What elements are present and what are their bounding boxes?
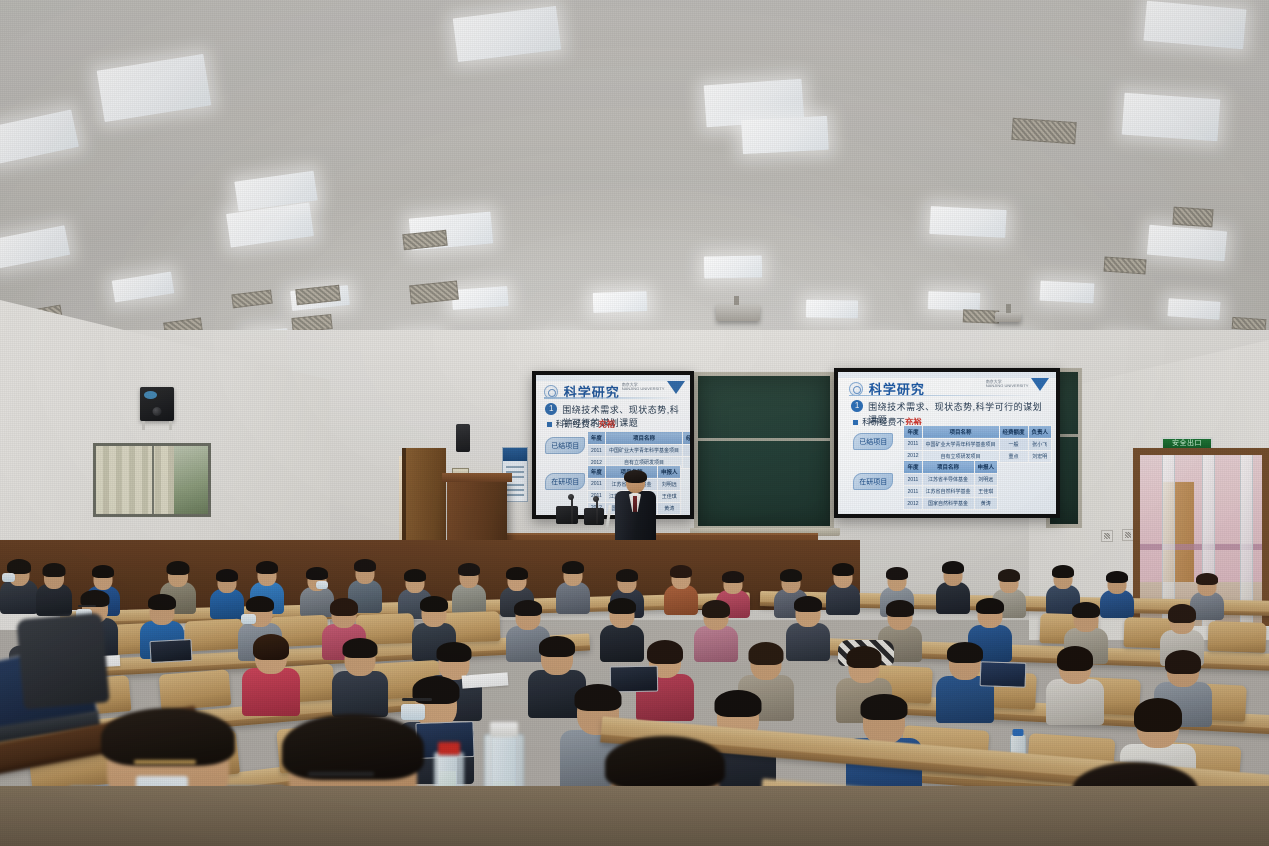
ceiling-light-panel <box>806 300 858 319</box>
exit-sign-text-cn: 安全出口 <box>1172 440 1202 447</box>
bottle-cap <box>490 722 518 737</box>
logo-mark-icon <box>667 381 685 394</box>
microphone-head-icon <box>568 494 574 500</box>
audience-hair <box>330 598 358 616</box>
table-cell: 黄涛 <box>974 498 998 510</box>
audience-torso <box>1046 679 1104 725</box>
lectern-top <box>442 473 512 482</box>
floor <box>0 786 1269 846</box>
laptop <box>149 639 192 663</box>
audience-hair <box>1134 698 1182 732</box>
projection-screen-right: 南京大学 NANJING UNIVERSITY 科学研究 1 围绕技术需求、现状… <box>834 368 1060 518</box>
audience-hair <box>847 646 882 668</box>
window-glass <box>174 446 208 514</box>
audience-torso <box>556 582 590 614</box>
notice-header <box>503 448 527 461</box>
audience-hair <box>539 636 575 657</box>
ceiling-air-vent <box>1011 118 1076 144</box>
audience-torso <box>452 584 486 615</box>
table-header-cell: 年度 <box>904 461 922 474</box>
audience-hair <box>886 600 914 617</box>
slide-table-one: 年度项目名称经费额度负责人2011中国矿业大学青年科学基金项目一般张小飞2012… <box>587 431 690 469</box>
audience-hair <box>976 598 1004 614</box>
window-mullion <box>152 446 154 514</box>
presenter <box>612 472 658 544</box>
audience-hair <box>43 563 66 577</box>
eyeglasses <box>78 605 96 607</box>
table-cell: 刘明远 <box>657 478 681 490</box>
audience-hair <box>616 569 638 582</box>
chalkboard-left <box>694 372 834 530</box>
window-curtain <box>96 446 177 514</box>
table-row: 2012国家自然科学基金黄涛 <box>904 498 998 510</box>
audience-hair <box>437 642 472 662</box>
audience-hair <box>420 596 448 612</box>
audience-torso <box>664 585 698 615</box>
audience-torso <box>826 584 860 615</box>
audience-member <box>664 566 698 614</box>
table-one-tag: 已结项目 <box>853 433 893 450</box>
subpoint-emphasis: 充裕 <box>598 419 615 429</box>
table-cell: 王佳琪 <box>974 486 998 498</box>
audience-hair <box>947 642 983 663</box>
audience-hair <box>343 638 378 658</box>
ceiling-light-panel <box>929 206 1006 238</box>
audience-hair <box>998 569 1020 582</box>
wall-socket-plate <box>1101 530 1113 542</box>
audience-member <box>36 564 72 614</box>
bullet-number: 1 <box>851 400 863 412</box>
wall-speaker-icon <box>456 424 470 452</box>
audience-hair <box>404 569 426 582</box>
table-cell: 2011 <box>587 445 605 457</box>
logo-mark-icon <box>1031 378 1049 391</box>
audience-hair <box>246 596 274 612</box>
table-header-cell: 年度 <box>904 425 922 438</box>
table-cell: 2011 <box>587 478 605 490</box>
audience-member <box>826 564 860 614</box>
audience-hair <box>861 694 908 720</box>
audience-hair <box>670 565 692 578</box>
table-header-cell: 年度 <box>587 465 605 478</box>
microphone-stand <box>596 500 598 524</box>
table-cell: 重点 <box>999 450 1028 462</box>
presenter-tie <box>633 496 637 512</box>
audience-hair <box>780 569 802 582</box>
face-mask <box>2 573 15 582</box>
laptop <box>980 661 1027 688</box>
audience-torso <box>332 671 388 717</box>
table-cell: 2011 <box>904 486 922 498</box>
table-two-tag: 在研项目 <box>853 473 893 490</box>
audience-hair <box>1106 571 1128 583</box>
speaker-bracket <box>142 421 172 430</box>
slide-title-underline <box>544 397 680 399</box>
slide-title-badge-icon <box>544 385 558 399</box>
table-cell: 重点 <box>682 457 690 469</box>
slide-right: 南京大学 NANJING UNIVERSITY 科学研究 1 围绕技术需求、现状… <box>838 372 1056 514</box>
ceiling-projector <box>716 304 760 321</box>
table-two-tag: 在研项目 <box>545 473 585 490</box>
audience-hair <box>647 640 683 664</box>
ceiling-light-panel <box>741 116 829 154</box>
audience-hair <box>608 598 636 614</box>
audience-hair <box>832 563 854 576</box>
slide-title-underline <box>849 395 1041 397</box>
subpoint-text: 科研经费不充裕 <box>556 418 616 430</box>
seat-back <box>184 619 243 652</box>
ceiling-air-vent <box>1172 207 1213 228</box>
audience-hair <box>458 563 480 576</box>
table-header-cell: 负责人 <box>1028 425 1052 438</box>
audience-member <box>936 562 970 614</box>
audience-hair <box>354 559 376 572</box>
table-cell: 黄涛 <box>657 502 681 514</box>
ceiling-light-panel <box>928 291 981 311</box>
audience-member <box>332 638 388 710</box>
wall-speaker-icon <box>140 387 174 421</box>
microphone-stand <box>571 498 573 524</box>
audience-member <box>694 600 738 656</box>
table-row: 2011江苏省半导体基金刘明远 <box>904 474 998 486</box>
audience-hair <box>1168 604 1196 623</box>
presenter-monitor <box>556 506 578 524</box>
eyeglasses <box>308 772 374 776</box>
audience-hair <box>1072 602 1100 618</box>
slide-subpoint: 科研经费不充裕 <box>547 418 616 430</box>
ceiling-air-vent <box>963 309 999 323</box>
left-window <box>93 443 211 517</box>
audience-member <box>452 564 486 614</box>
speaker-indicator-icon <box>144 391 157 399</box>
seat-back <box>1207 621 1266 653</box>
backpack <box>16 612 110 709</box>
audience-hair <box>514 600 542 616</box>
ceiling-light-panel <box>704 255 762 278</box>
audience-hair <box>1165 650 1201 674</box>
audience-hair <box>886 567 908 580</box>
presenter-monitor <box>584 508 604 525</box>
table-cell: 江苏省半导体基金 <box>922 474 974 486</box>
audience-torso <box>936 582 970 614</box>
table-cell: 中国矿业大学青年科学基金项目 <box>605 445 682 457</box>
audience-torso <box>694 626 738 662</box>
table-cell: 刘明远 <box>974 474 998 486</box>
audience-hair <box>506 567 528 580</box>
audience-hair <box>575 684 622 711</box>
table-header-cell: 申报人 <box>657 465 681 478</box>
microphone-head-icon <box>593 496 599 502</box>
presenter-hair <box>624 470 647 483</box>
table-cell: 2012 <box>904 498 922 510</box>
table-header-cell: 项目名称 <box>922 461 974 474</box>
table-cell: 2011 <box>904 474 922 486</box>
audience-hair <box>715 690 762 717</box>
bottle-cap <box>1013 729 1024 736</box>
table-header-cell: 项目名称 <box>605 432 682 445</box>
table-cell: 一般 <box>999 438 1028 450</box>
university-logo: 南京大学 NANJING UNIVERSITY <box>622 381 686 394</box>
table-cell: 张小飞 <box>1028 438 1052 450</box>
ceiling-light-panel <box>451 286 508 310</box>
seat-back <box>159 669 232 710</box>
bottle-cap <box>438 742 460 755</box>
audience-hair <box>1196 573 1218 585</box>
table-header-cell: 经费额度 <box>999 425 1028 438</box>
square-bullet-icon <box>853 420 858 425</box>
slide-table-two: 年度项目名称申报人2011江苏省半导体基金刘明远2011江苏省自然科学基金王佳琪… <box>903 460 998 510</box>
slide-title-badge-icon <box>849 382 863 396</box>
table-cell: 国家自然科学基金 <box>922 498 974 510</box>
table-cell: 刘宏明 <box>1028 450 1052 462</box>
audience-hair <box>942 561 964 574</box>
ceiling-light-panel <box>1143 1 1246 50</box>
table-cell: 2011 <box>904 438 922 450</box>
table-cell: 王佳琪 <box>657 490 681 502</box>
audience-hair <box>92 565 114 578</box>
ceiling-light-panel <box>593 291 648 313</box>
audience-member <box>0 558 38 612</box>
audience-member <box>556 562 590 614</box>
audience-member <box>242 634 300 710</box>
table-row: 2011中国矿业大学青年科学基金项目一般张小飞 <box>904 438 1052 450</box>
audience-hair <box>253 634 289 660</box>
slide-table-one: 年度项目名称经费额度负责人2011中国矿业大学青年科学基金项目一般张小飞2012… <box>903 425 1052 463</box>
table-header-cell: 申报人 <box>974 461 998 474</box>
table-one-tag: 已结项目 <box>545 437 585 454</box>
audience-hair <box>282 714 424 780</box>
audience-hair <box>1052 565 1074 578</box>
bullet-number: 1 <box>545 403 557 415</box>
face-mask <box>241 614 256 624</box>
audience-hair <box>216 569 238 582</box>
lecture-hall-photo: 南京大学 NANJING UNIVERSITY 科学研究 1 围绕技术需求、现状… <box>0 0 1269 846</box>
ceiling-light-panel <box>1122 93 1221 142</box>
logo-line2: NANJING UNIVERSITY <box>622 387 665 391</box>
table-cell: 中国矿业大学青年科学基金项目 <box>922 438 999 450</box>
logo-line2: NANJING UNIVERSITY <box>986 384 1029 388</box>
audience-hair <box>167 561 190 575</box>
university-logo: 南京大学 NANJING UNIVERSITY <box>986 378 1050 391</box>
audience-hair <box>101 708 235 766</box>
eyeglasses <box>134 760 196 764</box>
table-row: 2011中国矿业大学青年科学基金项目一般张小飞 <box>587 445 690 457</box>
table-row: 2011江苏省自然科学基金王佳琪 <box>904 486 998 498</box>
audience-hair <box>794 596 822 612</box>
table-cell: 江苏省自然科学基金 <box>922 486 974 498</box>
audience-hair <box>605 736 725 790</box>
audience-hair <box>306 567 328 580</box>
audience-hair <box>722 571 744 583</box>
audience-hair <box>702 600 730 618</box>
audience-hair <box>7 559 31 574</box>
audience-member <box>1046 646 1104 718</box>
eyeglasses <box>402 698 432 701</box>
audience-hair <box>256 561 278 574</box>
square-bullet-icon <box>547 422 552 427</box>
ceiling-light-panel <box>1040 281 1095 304</box>
table-header-cell: 项目名称 <box>922 425 999 438</box>
ceiling-air-vent <box>1104 257 1147 275</box>
audience-hair <box>148 594 176 610</box>
table-header-cell: 经费额度 <box>682 432 690 445</box>
ceiling-light-panel <box>1167 298 1220 320</box>
audience-hair <box>749 642 784 665</box>
ceiling-projector <box>995 312 1021 322</box>
audience-hair <box>562 561 584 574</box>
face-mask <box>316 581 328 589</box>
table-cell: 一般 <box>682 445 690 457</box>
audience-hair <box>1057 646 1093 671</box>
table-header-cell: 年度 <box>587 432 605 445</box>
